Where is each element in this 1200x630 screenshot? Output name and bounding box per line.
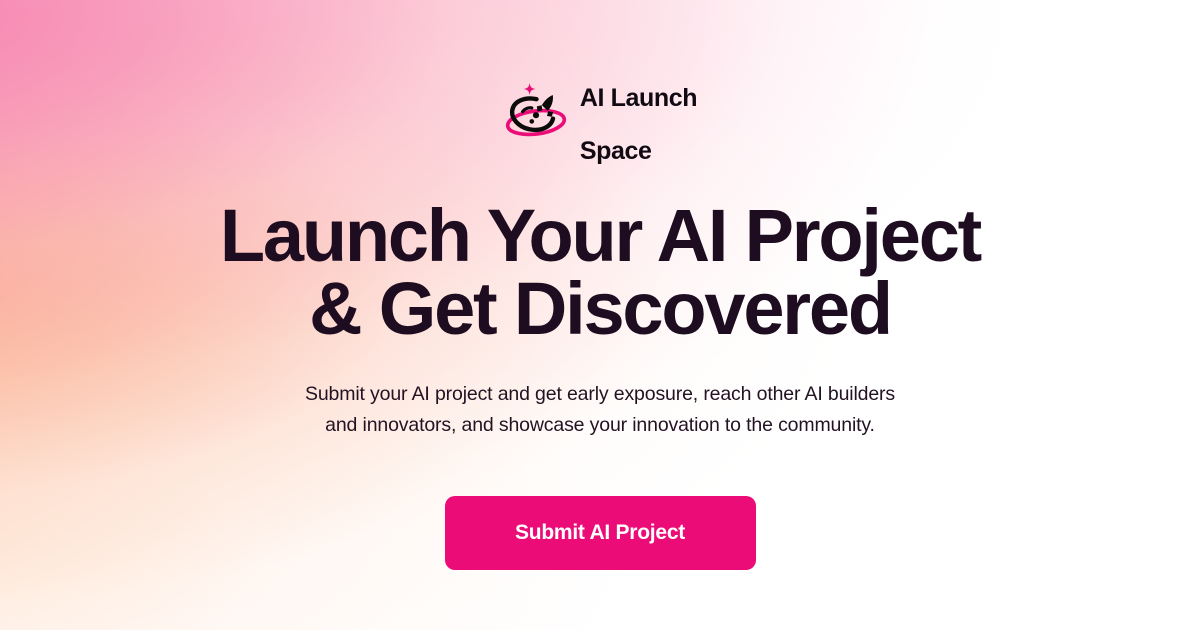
hero-subtitle: Submit your AI project and get early exp… xyxy=(305,379,895,442)
brand-logo[interactable]: AI Launch Space xyxy=(503,58,697,165)
hero-banner: AI Launch Space Launch Your AI Project &… xyxy=(0,0,1200,630)
brand-name: AI Launch Space xyxy=(580,58,697,165)
subtitle-line-1: Submit your AI project and get early exp… xyxy=(305,379,895,411)
hero-headline: Launch Your AI Project & Get Discovered xyxy=(220,199,980,346)
rocket-planet-orbit-icon xyxy=(503,81,569,143)
subtitle-line-2: and innovators, and showcase your innova… xyxy=(305,410,895,442)
submit-ai-project-button[interactable]: Submit AI Project xyxy=(445,496,756,570)
cta-container: Submit AI Project xyxy=(445,496,756,570)
brand-name-line1: AI Launch xyxy=(580,84,697,112)
headline-line-2: & Get Discovered xyxy=(220,272,980,345)
brand-name-line2: Space xyxy=(580,137,652,165)
headline-line-1: Launch Your AI Project xyxy=(220,199,980,272)
